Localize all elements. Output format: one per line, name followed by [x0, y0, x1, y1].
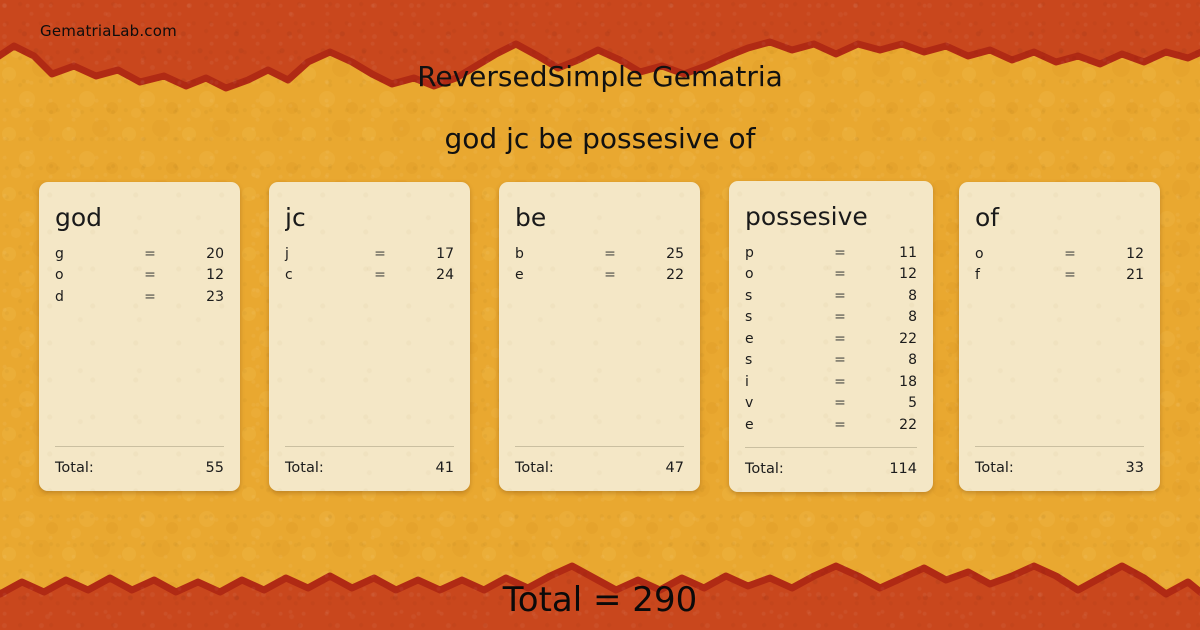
equals-sign: =	[817, 352, 863, 368]
letter-value-row: j=17	[285, 246, 454, 268]
letter-value-list: g=20o=12d=23	[55, 246, 224, 447]
letter-value-row: s=8	[745, 352, 917, 374]
letter-label: c	[285, 267, 357, 283]
letter-label: e	[745, 417, 817, 433]
card-total-value: 114	[889, 461, 917, 477]
equals-sign: =	[817, 309, 863, 325]
letter-value-row: f=21	[975, 267, 1144, 289]
letter-label: b	[515, 246, 587, 262]
word-card: beb=25e=22Total:47	[499, 182, 700, 491]
equals-sign: =	[1047, 246, 1093, 262]
equals-sign: =	[817, 374, 863, 390]
word-card-title: possesive	[745, 203, 917, 231]
letter-label: f	[975, 267, 1047, 283]
letter-value: 25	[633, 246, 684, 262]
letter-value: 22	[863, 417, 917, 433]
word-card: jcj=17c=24Total:41	[269, 182, 470, 491]
card-total-row: Total:33	[975, 447, 1144, 491]
letter-value-row: d=23	[55, 289, 224, 311]
equals-sign: =	[817, 245, 863, 261]
letter-label: e	[745, 331, 817, 347]
word-card-title: of	[975, 204, 1144, 232]
letter-value-list: j=17c=24	[285, 246, 454, 447]
letter-value-row: e=22	[745, 417, 917, 439]
letter-value: 8	[863, 309, 917, 325]
equals-sign: =	[127, 267, 173, 283]
letter-value-row: o=12	[55, 267, 224, 289]
letter-value-row: b=25	[515, 246, 684, 268]
letter-value: 12	[863, 266, 917, 282]
letter-label: v	[745, 395, 817, 411]
letter-label: p	[745, 245, 817, 261]
letter-value: 22	[633, 267, 684, 283]
letter-value-row: g=20	[55, 246, 224, 268]
letter-value: 22	[863, 331, 917, 347]
phrase-title: god jc be possesive of	[0, 122, 1200, 155]
letter-value: 11	[863, 245, 917, 261]
card-total-value: 47	[666, 460, 684, 476]
equals-sign: =	[127, 246, 173, 262]
site-brand-label: GematriaLab.com	[40, 22, 177, 40]
equals-sign: =	[1047, 267, 1093, 283]
poster-canvas: GematriaLab.com ReversedSimple Gematria …	[0, 0, 1200, 630]
letter-value: 17	[403, 246, 454, 262]
equals-sign: =	[357, 267, 403, 283]
letter-value: 12	[1093, 246, 1144, 262]
letter-value: 23	[173, 289, 224, 305]
word-card: possesivep=11o=12s=8s=8e=22s=8i=18v=5e=2…	[729, 181, 933, 492]
letter-value-row: o=12	[975, 246, 1144, 268]
letter-value-list: o=12f=21	[975, 246, 1144, 447]
letter-label: o	[975, 246, 1047, 262]
card-total-value: 55	[206, 460, 224, 476]
letter-value-row: o=12	[745, 266, 917, 288]
card-total-value: 41	[436, 460, 454, 476]
equals-sign: =	[817, 331, 863, 347]
letter-value: 8	[863, 288, 917, 304]
letter-value: 12	[173, 267, 224, 283]
letter-label: g	[55, 246, 127, 262]
letter-label: s	[745, 352, 817, 368]
letter-value: 24	[403, 267, 454, 283]
card-total-row: Total:47	[515, 447, 684, 491]
cipher-title: ReversedSimple Gematria	[0, 60, 1200, 93]
equals-sign: =	[817, 288, 863, 304]
equals-sign: =	[357, 246, 403, 262]
letter-value-row: v=5	[745, 395, 917, 417]
letter-value-list: b=25e=22	[515, 246, 684, 447]
card-total-label: Total:	[745, 461, 784, 477]
equals-sign: =	[817, 266, 863, 282]
card-total-value: 33	[1126, 460, 1144, 476]
letter-value: 20	[173, 246, 224, 262]
letter-label: e	[515, 267, 587, 283]
word-cards-container: godg=20o=12d=23Total:55jcj=17c=24Total:4…	[0, 0, 1200, 630]
letter-value-row: i=18	[745, 374, 917, 396]
word-card-title: be	[515, 204, 684, 232]
card-total-label: Total:	[55, 460, 94, 476]
letter-value-row: s=8	[745, 288, 917, 310]
word-card-title: god	[55, 204, 224, 232]
letter-value: 5	[863, 395, 917, 411]
letter-label: o	[745, 266, 817, 282]
letter-value-row: c=24	[285, 267, 454, 289]
letter-value-row: e=22	[515, 267, 684, 289]
word-card-title: jc	[285, 204, 454, 232]
card-total-row: Total:55	[55, 447, 224, 491]
letter-label: j	[285, 246, 357, 262]
card-total-row: Total:114	[745, 448, 917, 492]
equals-sign: =	[817, 395, 863, 411]
word-card: ofo=12f=21Total:33	[959, 182, 1160, 491]
equals-sign: =	[817, 417, 863, 433]
letter-label: i	[745, 374, 817, 390]
grand-total-label: Total = 290	[0, 580, 1200, 620]
equals-sign: =	[127, 289, 173, 305]
letter-label: o	[55, 267, 127, 283]
letter-label: d	[55, 289, 127, 305]
card-total-row: Total:41	[285, 447, 454, 491]
letter-value-row: e=22	[745, 331, 917, 353]
card-total-label: Total:	[515, 460, 554, 476]
card-total-label: Total:	[285, 460, 324, 476]
letter-value: 21	[1093, 267, 1144, 283]
equals-sign: =	[587, 246, 633, 262]
equals-sign: =	[587, 267, 633, 283]
letter-label: s	[745, 288, 817, 304]
letter-value-list: p=11o=12s=8s=8e=22s=8i=18v=5e=22	[745, 245, 917, 448]
letter-value: 18	[863, 374, 917, 390]
word-card: godg=20o=12d=23Total:55	[39, 182, 240, 491]
card-total-label: Total:	[975, 460, 1014, 476]
letter-value-row: p=11	[745, 245, 917, 267]
letter-value-row: s=8	[745, 309, 917, 331]
letter-label: s	[745, 309, 817, 325]
letter-value: 8	[863, 352, 917, 368]
